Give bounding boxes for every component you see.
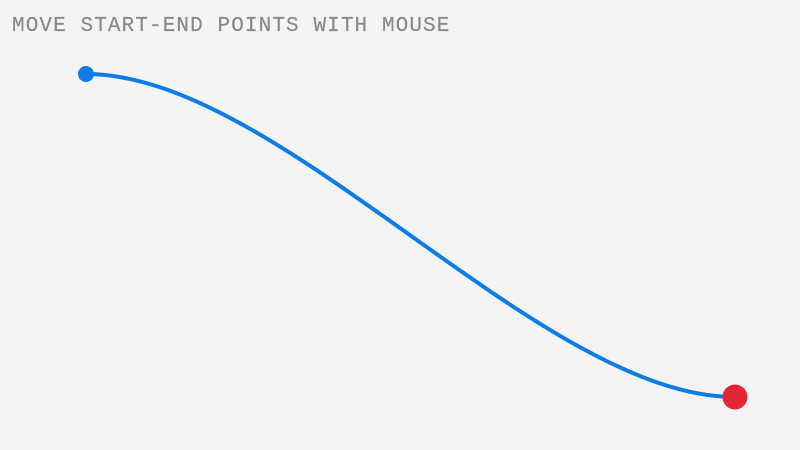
start-point-handle[interactable] [78,66,94,82]
app-root: MOVE START-END POINTS WITH MOUSE [0,0,800,450]
bezier-curve [86,74,735,397]
bezier-stage[interactable] [0,0,800,450]
end-point-handle[interactable] [723,385,748,410]
bezier-canvas[interactable] [0,0,800,450]
